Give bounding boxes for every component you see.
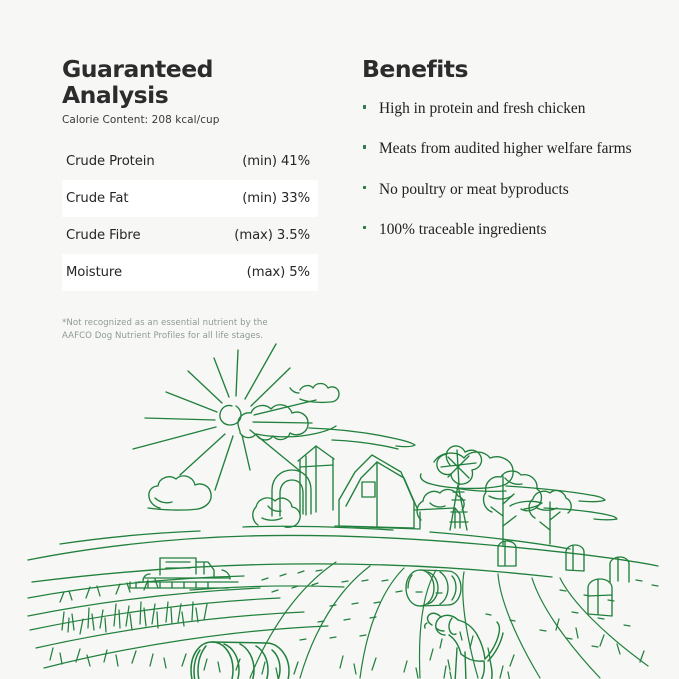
table-row: Crude Protein (min) 41% xyxy=(62,143,318,180)
guaranteed-analysis-table: Crude Protein (min) 41% Crude Fat (min) … xyxy=(62,143,318,291)
guaranteed-analysis-section: Guaranteed Analysis Calorie Content: 208… xyxy=(62,56,320,342)
product-info-page: Guaranteed Analysis Calorie Content: 208… xyxy=(0,0,679,679)
table-row: Crude Fibre (max) 3.5% xyxy=(62,217,318,254)
bullet-dot-icon xyxy=(363,226,366,229)
nutrient-name: Moisture xyxy=(66,265,122,280)
bullet-dot-icon xyxy=(363,186,366,189)
benefits-list: High in protein and fresh chicken Meats … xyxy=(362,98,652,239)
field-horizon-lines xyxy=(28,526,658,582)
list-item: Meats from audited higher welfare farms xyxy=(362,138,652,159)
list-item: No poultry or meat byproducts xyxy=(362,179,652,200)
quonset-shed-icon xyxy=(272,470,311,516)
grass-icon xyxy=(50,579,644,672)
dog-icon xyxy=(425,613,503,679)
bullet-dot-icon xyxy=(363,145,366,148)
nutrient-name: Crude Fat xyxy=(66,191,128,206)
bullet-dot-icon xyxy=(363,105,366,108)
nutrient-name: Crude Protein xyxy=(66,154,155,169)
farm-illustration xyxy=(0,330,679,679)
nutrient-value: (max) 3.5% xyxy=(234,228,310,243)
benefits-section: Benefits High in protein and fresh chick… xyxy=(362,56,652,259)
nutrient-value: (max) 5% xyxy=(247,265,310,280)
clouds-icon xyxy=(148,384,617,520)
benefit-text: No poultry or meat byproducts xyxy=(379,181,569,198)
benefit-text: High in protein and fresh chicken xyxy=(379,100,585,117)
crop-field-rows xyxy=(28,562,648,678)
benefit-text: 100% traceable ingredients xyxy=(379,221,547,238)
farm-landscape-line-art xyxy=(0,330,679,679)
benefits-title: Benefits xyxy=(362,56,652,82)
round-hay-bale-mid-icon xyxy=(406,570,461,606)
table-row: Crude Fat (min) 33% xyxy=(62,180,318,217)
benefit-text: Meats from audited higher welfare farms xyxy=(379,140,632,157)
table-row: Moisture (max) 5% xyxy=(62,254,318,291)
list-item: 100% traceable ingredients xyxy=(362,219,652,240)
sun-rays-icon xyxy=(133,344,316,490)
nutrient-value: (min) 41% xyxy=(242,154,310,169)
guaranteed-analysis-title: Guaranteed Analysis xyxy=(62,56,320,109)
list-item: High in protein and fresh chicken xyxy=(362,98,652,119)
calorie-content-text: Calorie Content: 208 kcal/cup xyxy=(62,114,320,126)
nutrient-value: (min) 33% xyxy=(242,191,310,206)
info-area: Guaranteed Analysis Calorie Content: 208… xyxy=(0,0,679,330)
nutrient-name: Crude Fibre xyxy=(66,228,140,243)
